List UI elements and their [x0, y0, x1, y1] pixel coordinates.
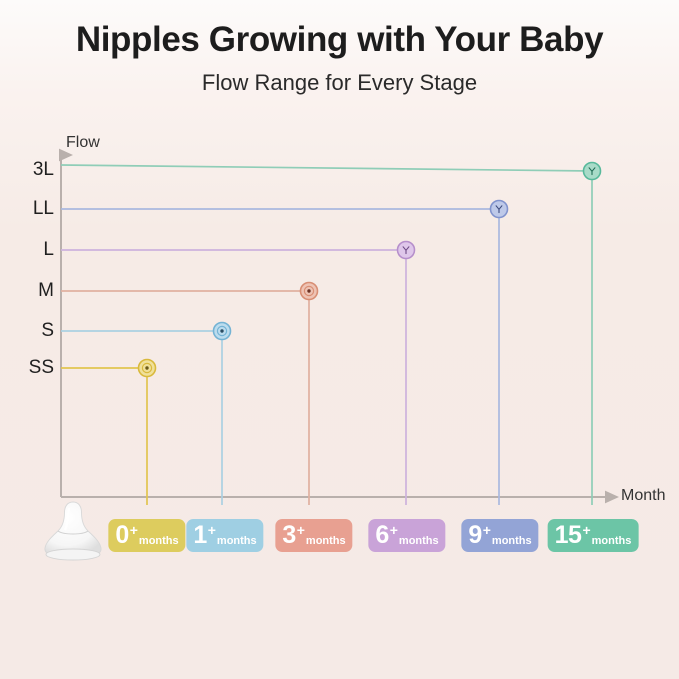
age-badge-15-number: 15	[555, 523, 582, 548]
age-badge-15-plus: +	[582, 523, 590, 537]
age-badge-9-number: 9	[468, 523, 481, 548]
age-badge-9-months[interactable]: 9 + months	[461, 519, 538, 552]
age-badge-1-number: 1	[193, 523, 206, 548]
age-badge-6-unit: months	[399, 536, 439, 547]
age-badge-0-unit: months	[139, 536, 179, 547]
age-badge-6-number: 6	[375, 523, 388, 548]
age-badge-3-months[interactable]: 3 + months	[275, 519, 352, 552]
age-badge-3-number: 3	[282, 523, 295, 548]
chart-page: Nipples Growing with Your Baby Flow Rang…	[0, 0, 679, 679]
age-badge-1-months[interactable]: 1 + months	[186, 519, 263, 552]
age-badge-1-unit: months	[217, 536, 257, 547]
age-badge-6-months[interactable]: 6 + months	[368, 519, 445, 552]
age-badge-3-plus: +	[297, 523, 305, 537]
age-badge-15-months[interactable]: 15 + months	[548, 519, 639, 552]
age-badge-0-plus: +	[130, 523, 138, 537]
age-badge-15-unit: months	[592, 536, 632, 547]
age-badge-6-plus: +	[390, 523, 398, 537]
age-badge-9-unit: months	[492, 536, 532, 547]
age-badge-3-unit: months	[306, 536, 346, 547]
age-badge-row: 0 + months 1 + months 3 + months 6 + mon…	[0, 0, 679, 679]
age-badge-9-plus: +	[483, 523, 491, 537]
age-badge-1-plus: +	[208, 523, 216, 537]
age-badge-0-months[interactable]: 0 + months	[108, 519, 185, 552]
age-badge-0-number: 0	[115, 523, 128, 548]
